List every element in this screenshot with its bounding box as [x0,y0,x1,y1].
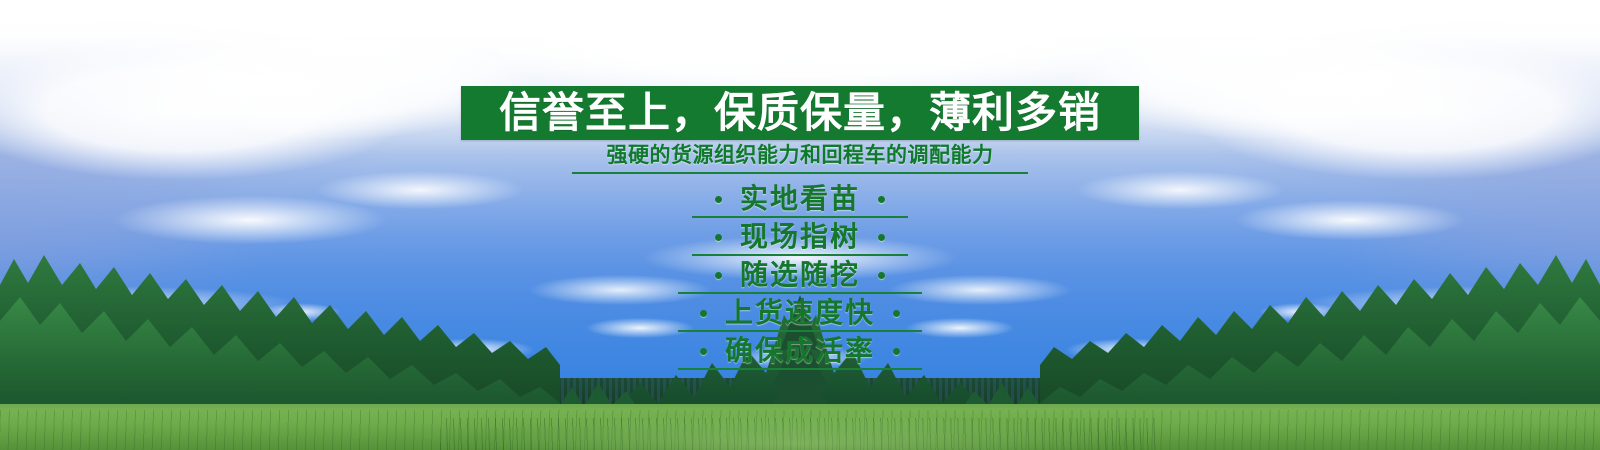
feature-item: 实地看苗 [0,180,1600,218]
subtitle-underline [572,172,1028,174]
feature-label: 随选随挖 [740,261,860,289]
feature-label: 上货速度快 [725,299,875,327]
feature-list: 实地看苗 现场指树 随选随挖 [0,180,1600,370]
bullet-dot-right [893,348,900,355]
bullet-dot-right [878,234,885,241]
feature-item: 确保成活率 [0,332,1600,370]
feature-label: 确保成活率 [725,337,875,365]
bullet-dot-left [715,234,722,241]
bullet-dot-left [700,348,707,355]
feature-divider [678,368,922,370]
bullet-dot-right [878,272,885,279]
feature-item: 随选随挖 [0,256,1600,294]
feature-item: 上货速度快 [0,294,1600,332]
banner-content: 信誉至上，保质保量，薄利多销 强硬的货源组织能力和回程车的调配能力 实地看苗 现… [0,0,1600,450]
bullet-dot-right [893,310,900,317]
headline-text: 信誉至上，保质保量，薄利多销 [461,86,1139,140]
feature-label: 实地看苗 [740,185,860,213]
headline-band: 信誉至上，保质保量，薄利多销 [461,86,1139,140]
bullet-dot-right [878,196,885,203]
promotional-banner: 信誉至上，保质保量，薄利多销 强硬的货源组织能力和回程车的调配能力 实地看苗 现… [0,0,1600,450]
feature-label: 现场指树 [740,223,860,251]
bullet-dot-left [715,196,722,203]
subtitle-text: 强硬的货源组织能力和回程车的调配能力 [0,145,1600,166]
feature-item: 现场指树 [0,218,1600,256]
bullet-dot-left [715,272,722,279]
bullet-dot-left [700,310,707,317]
